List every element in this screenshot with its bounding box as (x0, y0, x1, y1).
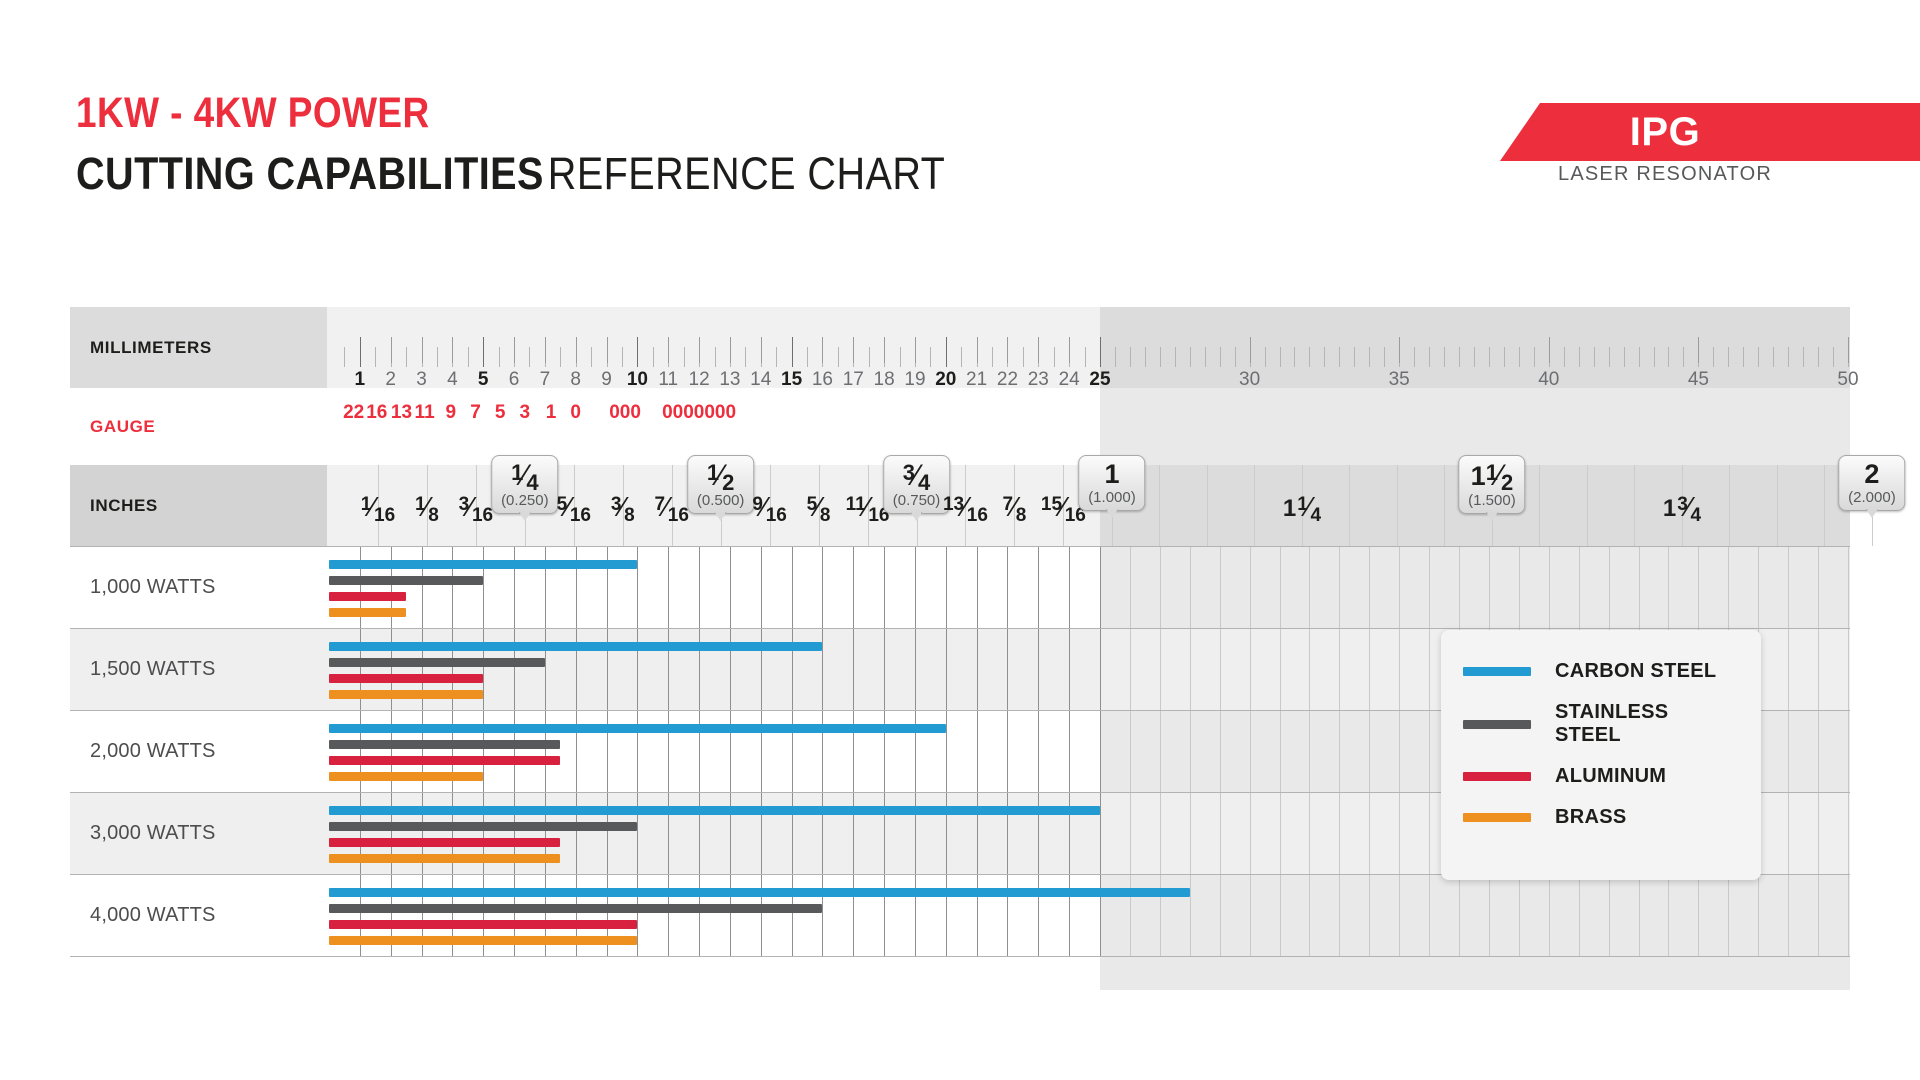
grid-line (1549, 875, 1550, 956)
logo-wordmark: IPG (1500, 103, 1920, 161)
mm-minor-tick (684, 347, 685, 367)
mm-tick (792, 337, 793, 367)
grid-line (1190, 793, 1191, 874)
inch-tick (1777, 465, 1778, 546)
grid-line (1250, 875, 1251, 956)
inch-fraction-label: 1⁄16 (361, 493, 395, 521)
mm-tick (391, 337, 392, 363)
grid-line (1130, 547, 1131, 628)
gauge-label: 1 (546, 402, 557, 424)
mm-tick (977, 337, 978, 363)
mm-minor-tick (992, 347, 993, 367)
grid-line (1160, 711, 1161, 792)
inch-fraction-label: 9⁄16 (752, 493, 786, 521)
inch-callout-chip: 3⁄4(0.750) (883, 455, 951, 514)
mm-minor-tick (1354, 347, 1355, 367)
mm-minor-tick (1743, 347, 1744, 367)
mm-minor-tick (1489, 347, 1490, 367)
mm-minor-tick (1190, 347, 1191, 367)
legend-label: ALUMINUM (1555, 765, 1666, 788)
mm-tick-label: 10 (627, 369, 648, 391)
grid-line (1489, 875, 1490, 956)
page-title: 1KW - 4KW POWER CUTTING CAPABILITIES REF… (76, 92, 1064, 196)
inch-fraction-label: 11⁄4 (1283, 493, 1321, 521)
table-bottom-border (327, 956, 1850, 957)
grid-line (1369, 629, 1370, 710)
mm-minor-tick (406, 347, 407, 367)
inch-tick (1729, 465, 1730, 546)
gauge-label: 3 (520, 402, 531, 424)
mm-tick (1848, 337, 1849, 363)
mm-tick-label: 17 (843, 369, 864, 391)
mm-tick (1399, 337, 1400, 363)
fraction-denominator: 16 (967, 506, 988, 525)
mm-tick (1549, 337, 1550, 363)
fraction-denominator: 16 (570, 506, 591, 525)
grid-line (1788, 629, 1789, 710)
inch-tick (1349, 465, 1350, 546)
power-row-label: 4,000 WATTS (70, 874, 327, 956)
mm-minor-tick (1085, 347, 1086, 367)
power-row-label: 3,000 WATTS (70, 792, 327, 874)
mm-tick-label: 23 (1028, 369, 1049, 391)
inch-fraction-label: 5⁄16 (557, 493, 591, 521)
grid-line (1579, 547, 1580, 628)
grid-line (1698, 875, 1699, 956)
grid-line (1668, 875, 1669, 956)
mm-minor-tick (437, 347, 438, 367)
gauge-label: 7 (470, 402, 481, 424)
bar-aluminum (329, 920, 637, 929)
fraction-numerator: 11 (846, 495, 866, 514)
grid-line (1369, 875, 1370, 956)
grid-line (637, 547, 638, 628)
mm-minor-tick (560, 347, 561, 367)
grid-line (1190, 711, 1191, 792)
legend-item: CARBON STEEL (1463, 660, 1739, 683)
grid-line (1100, 547, 1101, 628)
legend-item: ALUMINUM (1463, 765, 1739, 788)
mm-minor-tick (653, 347, 654, 367)
mm-tick (946, 337, 947, 367)
fraction-numerator: 3 (1677, 495, 1688, 514)
grid-line (1728, 547, 1729, 628)
bar-carbon-steel (329, 560, 637, 569)
mm-tick-label: 13 (719, 369, 740, 391)
mm-tick-label: 4 (447, 369, 458, 391)
mm-minor-tick (622, 347, 623, 367)
mm-minor-tick (375, 347, 376, 367)
mm-tick (360, 337, 361, 367)
mm-minor-tick (591, 347, 592, 367)
mm-minor-tick (1833, 347, 1834, 367)
mm-minor-tick (1414, 347, 1415, 367)
mm-tick-label: 45 (1688, 369, 1709, 391)
inch-tick (1207, 465, 1208, 546)
grid-line (1069, 711, 1070, 792)
mm-minor-tick (1324, 347, 1325, 367)
grid-line (1130, 793, 1131, 874)
mm-minor-tick (1534, 347, 1535, 367)
grid-line (1609, 875, 1610, 956)
mm-minor-tick (745, 347, 746, 367)
grid-line (853, 547, 854, 628)
mm-tick-label: 6 (509, 369, 520, 391)
grid-line (1459, 875, 1460, 956)
bar-aluminum (329, 592, 406, 601)
grid-line (1369, 547, 1370, 628)
grid-line (884, 629, 885, 710)
legend-swatch (1463, 772, 1531, 781)
chip-denominator: 2 (722, 472, 734, 494)
grid-line (1309, 793, 1310, 874)
legend-swatch (1463, 813, 1531, 822)
grid-line (915, 547, 916, 628)
grid-line (1848, 547, 1849, 628)
logo-subtitle: LASER RESONATOR (1500, 163, 1920, 186)
mm-tick-label: 19 (904, 369, 925, 391)
bar-brass (329, 608, 406, 617)
mm-tick (761, 337, 762, 363)
inch-callout-chip: 1⁄4(0.250) (491, 455, 559, 514)
mm-tick-label: 16 (812, 369, 833, 391)
grid-line (1818, 629, 1819, 710)
chip-denominator: 4 (526, 472, 538, 494)
mm-minor-tick (1220, 347, 1221, 367)
grid-line (1429, 711, 1430, 792)
mm-tick-label: 50 (1837, 369, 1858, 391)
grid-line (1399, 793, 1400, 874)
power-row-label: 1,500 WATTS (70, 628, 327, 710)
grid-line (1220, 547, 1221, 628)
grid-line (1519, 875, 1520, 956)
mm-minor-tick (1519, 347, 1520, 367)
grid-line (1280, 793, 1281, 874)
grid-line (699, 547, 700, 628)
mm-minor-tick (930, 347, 931, 367)
fraction-numerator: 5 (807, 495, 818, 514)
mm-tick (637, 337, 638, 367)
chip-numerator: 1 (511, 462, 523, 484)
grid-line (1818, 711, 1819, 792)
gauge-label: 16 (366, 402, 387, 424)
grid-line (1339, 547, 1340, 628)
grid-line (1698, 547, 1699, 628)
mm-tick-label: 35 (1389, 369, 1410, 391)
grid-line (1429, 793, 1430, 874)
gauge-label: 0000000 (662, 402, 736, 424)
inch-fraction-label: 3⁄8 (611, 493, 635, 521)
title-bold-part: CUTTING CAPABILITIES (76, 148, 544, 199)
row-header-inches: INCHES (70, 465, 327, 546)
grid-line (1280, 875, 1281, 956)
inch-tick (1444, 465, 1445, 546)
mm-tick (422, 337, 423, 363)
mm-minor-tick (1369, 347, 1370, 367)
mm-tick (915, 337, 916, 363)
chip-decimal: (2.000) (1848, 489, 1896, 506)
grid-line (761, 547, 762, 628)
mm-tick-label: 1 (355, 369, 366, 391)
grid-line (1069, 629, 1070, 710)
fraction-denominator: 8 (1016, 506, 1027, 525)
mm-minor-tick (1265, 347, 1266, 367)
gauge-label: 9 (446, 402, 457, 424)
power-row-label: 1,000 WATTS (70, 546, 327, 628)
mm-tick (668, 337, 669, 363)
power-row-label: 2,000 WATTS (70, 710, 327, 792)
mm-tick (545, 337, 546, 363)
grid-line (1220, 711, 1221, 792)
grid-line (1220, 875, 1221, 956)
grid-line (822, 547, 823, 628)
grid-line (853, 629, 854, 710)
grid-line (1280, 547, 1281, 628)
mm-tick-label: 40 (1538, 369, 1559, 391)
mm-tick (730, 337, 731, 363)
fraction-denominator: 16 (668, 506, 689, 525)
mm-minor-tick (1023, 347, 1024, 367)
mm-minor-tick (1788, 347, 1789, 367)
fraction-denominator: 4 (1690, 506, 1701, 525)
mm-minor-tick (1504, 347, 1505, 367)
grid-line (1758, 547, 1759, 628)
grid-line (946, 547, 947, 628)
inch-fraction-label: 13⁄4 (1663, 493, 1701, 521)
grid-line (1519, 547, 1520, 628)
grid-line (1339, 629, 1340, 710)
fraction-denominator: 16 (766, 506, 787, 525)
mm-minor-tick (1713, 347, 1714, 367)
legend-swatch (1463, 720, 1531, 729)
inch-callout-chip: 1(1.000) (1078, 455, 1146, 511)
inch-tick (1824, 465, 1825, 546)
mm-minor-tick (1564, 347, 1565, 367)
mm-minor-tick (1803, 347, 1804, 367)
mm-tick-label: 21 (966, 369, 987, 391)
grid-line (1639, 875, 1640, 956)
grid-line (946, 629, 947, 710)
grid-line (1250, 629, 1251, 710)
mm-minor-tick (1758, 347, 1759, 367)
bar-aluminum (329, 838, 560, 847)
mm-minor-tick (499, 347, 500, 367)
grid-line (977, 711, 978, 792)
grid-line (1038, 711, 1039, 792)
mm-minor-tick (1594, 347, 1595, 367)
bar-stainless-steel (329, 576, 483, 585)
grid-line (1130, 629, 1131, 710)
mm-tick-label: 12 (689, 369, 710, 391)
grid-line (822, 629, 823, 710)
mm-tick (1007, 337, 1008, 363)
bar-stainless-steel (329, 740, 560, 749)
fraction-numerator: 5 (557, 495, 568, 514)
mm-tick-label: 18 (874, 369, 895, 391)
bar-carbon-steel (329, 888, 1190, 897)
grid-line (1339, 711, 1340, 792)
mm-tick-label: 11 (658, 369, 678, 391)
mm-tick (1250, 337, 1251, 363)
grid-line (1848, 711, 1849, 792)
grid-line (1429, 547, 1430, 628)
grid-line (1100, 793, 1101, 874)
mm-minor-tick (1818, 347, 1819, 367)
mm-minor-tick (1624, 347, 1625, 367)
grid-line (1788, 875, 1789, 956)
gauge-label: 000 (609, 402, 641, 424)
fraction-numerator: 3 (459, 495, 470, 514)
mm-tick (1038, 337, 1039, 363)
mm-minor-tick (1429, 347, 1430, 367)
grid-line (730, 547, 731, 628)
grid-line (1399, 629, 1400, 710)
grid-line (1100, 711, 1101, 792)
mm-tick-label: 9 (601, 369, 612, 391)
grid-line (1160, 547, 1161, 628)
mm-minor-tick (344, 347, 345, 367)
grid-line (1100, 629, 1101, 710)
grid-line (884, 547, 885, 628)
grid-line (1130, 711, 1131, 792)
fraction-numerator: 7 (655, 495, 666, 514)
inch-callout-chip: 11⁄2(1.500) (1458, 455, 1526, 514)
chip-decimal: (0.250) (501, 492, 549, 509)
grid-line (1280, 711, 1281, 792)
grid-line (1609, 547, 1610, 628)
title-main: CUTTING CAPABILITIES REFERENCE CHART (76, 151, 945, 196)
fraction-numerator: 1 (415, 495, 426, 514)
grid-line (1848, 629, 1849, 710)
mm-tick-label: 15 (781, 369, 802, 391)
chip-whole: 1 (1471, 463, 1486, 490)
grid-line (1788, 793, 1789, 874)
grid-line (946, 711, 947, 792)
legend-item: STAINLESS STEEL (1463, 701, 1739, 747)
bar-stainless-steel (329, 822, 637, 831)
legend-label: BRASS (1555, 806, 1627, 829)
mm-minor-tick (1054, 347, 1055, 367)
grid-line (1549, 547, 1550, 628)
chart-page: 1KW - 4KW POWER CUTTING CAPABILITIES REF… (0, 0, 1920, 1080)
grid-line (1339, 875, 1340, 956)
mm-minor-tick (1444, 347, 1445, 367)
mm-tick (452, 337, 453, 363)
mm-minor-tick (715, 347, 716, 367)
mm-minor-tick (1309, 347, 1310, 367)
mm-minor-tick (1160, 347, 1161, 367)
mm-minor-tick (1384, 347, 1385, 367)
grid-line (1007, 547, 1008, 628)
grid-line (1818, 875, 1819, 956)
grid-line (1788, 547, 1789, 628)
fraction-numerator: 9 (752, 495, 763, 514)
grid-line (1250, 547, 1251, 628)
mm-minor-tick (1579, 347, 1580, 367)
bar-stainless-steel (329, 904, 822, 913)
gauge-label: 0 (570, 402, 581, 424)
mm-tick-label: 30 (1239, 369, 1260, 391)
grid-line (1369, 711, 1370, 792)
mm-tick-label: 3 (416, 369, 427, 391)
grid-line (1190, 547, 1191, 628)
fraction-denominator: 8 (624, 506, 635, 525)
inch-tick (1254, 465, 1255, 546)
inch-callout-chip: 2(2.000) (1838, 455, 1906, 511)
mm-minor-tick (1294, 347, 1295, 367)
mm-tick (576, 337, 577, 363)
grid-line (1639, 547, 1640, 628)
mm-tick-label: 7 (540, 369, 551, 391)
mm-tick (822, 337, 823, 363)
mm-tick-label: 20 (935, 369, 956, 391)
chip-numerator: 1 (707, 462, 719, 484)
row-header-gauge: GAUGE (70, 388, 327, 465)
bar-carbon-steel (329, 806, 1100, 815)
chip-pointer (1866, 509, 1878, 518)
legend-item: BRASS (1463, 806, 1739, 829)
grid-line (1848, 793, 1849, 874)
mm-minor-tick (529, 347, 530, 367)
chip-numerator: 3 (903, 462, 915, 484)
gauge-label: 13 (391, 402, 412, 424)
mm-tick-label: 22 (997, 369, 1018, 391)
mm-minor-tick (1175, 347, 1176, 367)
grid-line (1220, 793, 1221, 874)
grid-line (1309, 629, 1310, 710)
mm-minor-tick (1728, 347, 1729, 367)
grid-line (1399, 711, 1400, 792)
fraction-numerator: 7 (1002, 495, 1013, 514)
mm-minor-tick (1773, 347, 1774, 367)
mm-minor-tick (1639, 347, 1640, 367)
mm-tick (884, 337, 885, 363)
inch-fraction-label: 1⁄8 (415, 493, 439, 521)
fraction-whole: 1 (1663, 497, 1676, 521)
chip-denominator: 4 (918, 472, 930, 494)
grid-line (1250, 711, 1251, 792)
chip-denominator: 2 (1501, 472, 1513, 494)
gauge-label: 22 (343, 402, 364, 424)
mm-tick (853, 337, 854, 363)
chart-legend: CARBON STEELSTAINLESS STEELALUMINUMBRASS (1441, 630, 1761, 880)
mm-minor-tick (961, 347, 962, 367)
grid-line (1788, 711, 1789, 792)
chip-numerator: 1 (1486, 462, 1498, 484)
mm-minor-tick (1339, 347, 1340, 367)
inch-fraction-label: 5⁄8 (807, 493, 831, 521)
inch-tick (1634, 465, 1635, 546)
chip-whole: 1 (1104, 461, 1119, 488)
mm-tick (1069, 337, 1070, 363)
label-column-bottom-border (70, 956, 327, 957)
grid-line (1459, 547, 1460, 628)
fraction-numerator: 1 (361, 495, 372, 514)
bar-carbon-steel (329, 724, 946, 733)
mm-minor-tick (1115, 347, 1116, 367)
grid-line (1007, 711, 1008, 792)
grid-line (1309, 875, 1310, 956)
grid-line (1758, 875, 1759, 956)
fraction-numerator: 3 (611, 495, 622, 514)
fraction-denominator: 16 (374, 506, 395, 525)
inch-tick (1397, 465, 1398, 546)
grid-line (1007, 629, 1008, 710)
grid-line (1429, 875, 1430, 956)
grid-line (1038, 629, 1039, 710)
mm-minor-tick (900, 347, 901, 367)
mm-minor-tick (1474, 347, 1475, 367)
